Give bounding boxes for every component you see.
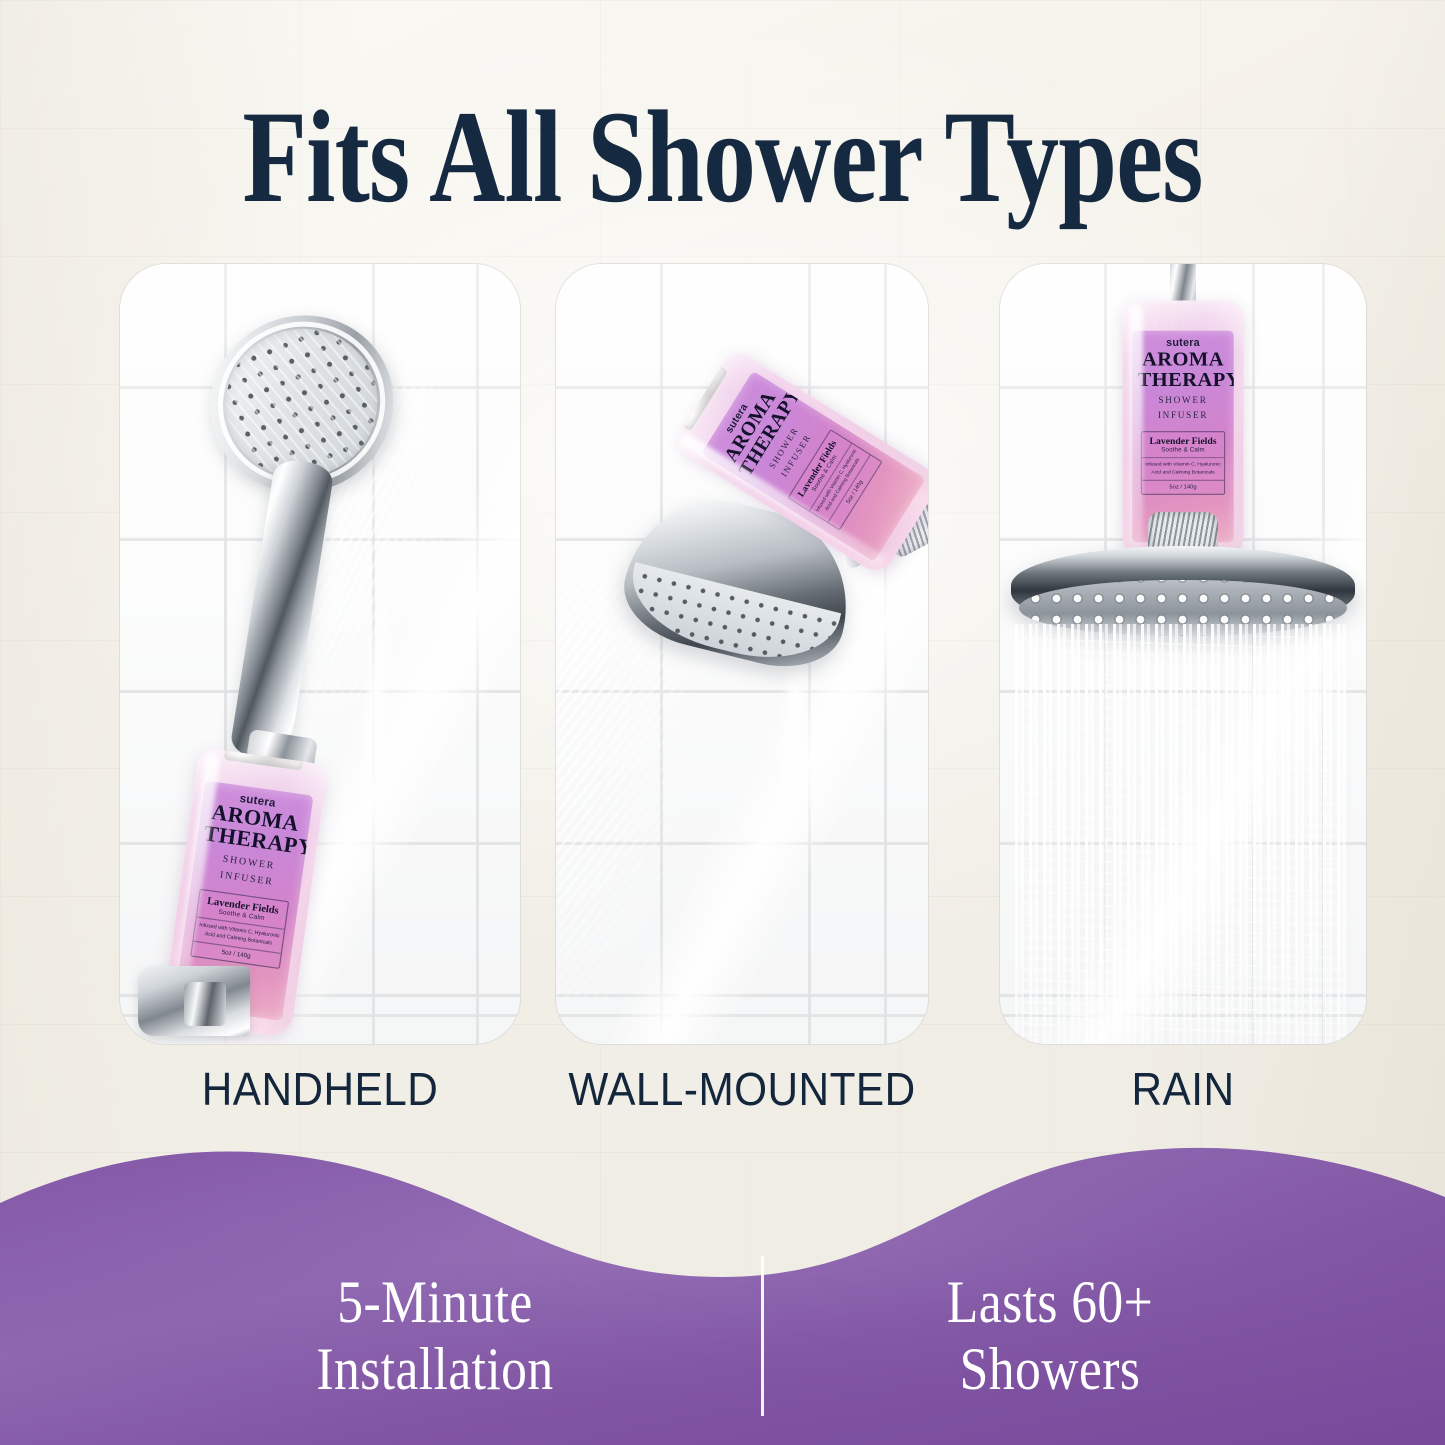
promo-graphic: Fits All Shower Types sutera AROMA [0,0,1445,1445]
label-ingredients-row: Infused with Vitamin C, Hyaluronic Acid … [1142,458,1224,480]
caption-handheld: HANDHELD [136,1062,504,1116]
benefit-right-line2: Showers [842,1336,1258,1403]
caption-wall-mounted: WALL-MOUNTED [556,1062,928,1116]
bottle-gloss [1129,305,1143,551]
page-title: Fits All Shower Types [145,88,1301,225]
label-subtitle-line2: INFUSER [1138,410,1229,421]
panel-wall-mounted[interactable]: sutera AROMA THERAPY SHOWER INFUSER Lave… [556,264,928,1044]
label-info-box: Lavender Fields Soothe & Calm Infused wi… [1141,431,1225,494]
benefits-divider [761,1256,764,1416]
hose-bracket [138,966,250,1036]
label-flavor-row: Lavender Fields Soothe & Calm [1142,432,1224,458]
benefit-left-line1: 5-Minute [192,1269,677,1336]
label-size-row: 5oz / 140g [1142,481,1224,494]
bottle-label: sutera AROMA THERAPY SHOWER INFUSER Lave… [1132,331,1234,543]
label-size: 5oz / 140g [1144,484,1222,490]
caption-rain: RAIN [1015,1062,1352,1116]
label-subtitle-line1: SHOWER [1138,394,1229,405]
panel-captions: HANDHELD WALL-MOUNTED RAIN [0,1062,1445,1122]
benefit-installation: 5-Minute Installation [177,1269,693,1403]
benefit-longevity: Lasts 60+ Showers [826,1269,1273,1403]
label-title-line1: AROMA [1138,350,1229,369]
panel-rain[interactable]: sutera AROMA THERAPY SHOWER INFUSER Lave… [1000,264,1366,1044]
benefits-band: 5-Minute Installation Lasts 60+ Showers [0,1145,1445,1445]
shower-type-panels: sutera AROMA THERAPY SHOWER INFUSER Lave… [0,264,1445,1044]
panel-handheld[interactable]: sutera AROMA THERAPY SHOWER INFUSER Lave… [120,264,520,1044]
benefit-left-line2: Installation [192,1336,677,1403]
rain-water-detail [1023,636,1343,1036]
benefits-content: 5-Minute Installation Lasts 60+ Showers [0,1227,1445,1445]
label-title-line2: THERAPY [1138,371,1229,390]
benefit-right-line1: Lasts 60+ [842,1269,1258,1336]
label-tagline: Soothe & Calm [1144,447,1222,453]
label-info-box: Lavender Fields Soothe & Calm Infused wi… [190,889,289,969]
label-flavor: Lavender Fields [1144,435,1222,446]
label-ingredients: Infused with Vitamin C, Hyaluronic Acid … [1144,461,1222,476]
